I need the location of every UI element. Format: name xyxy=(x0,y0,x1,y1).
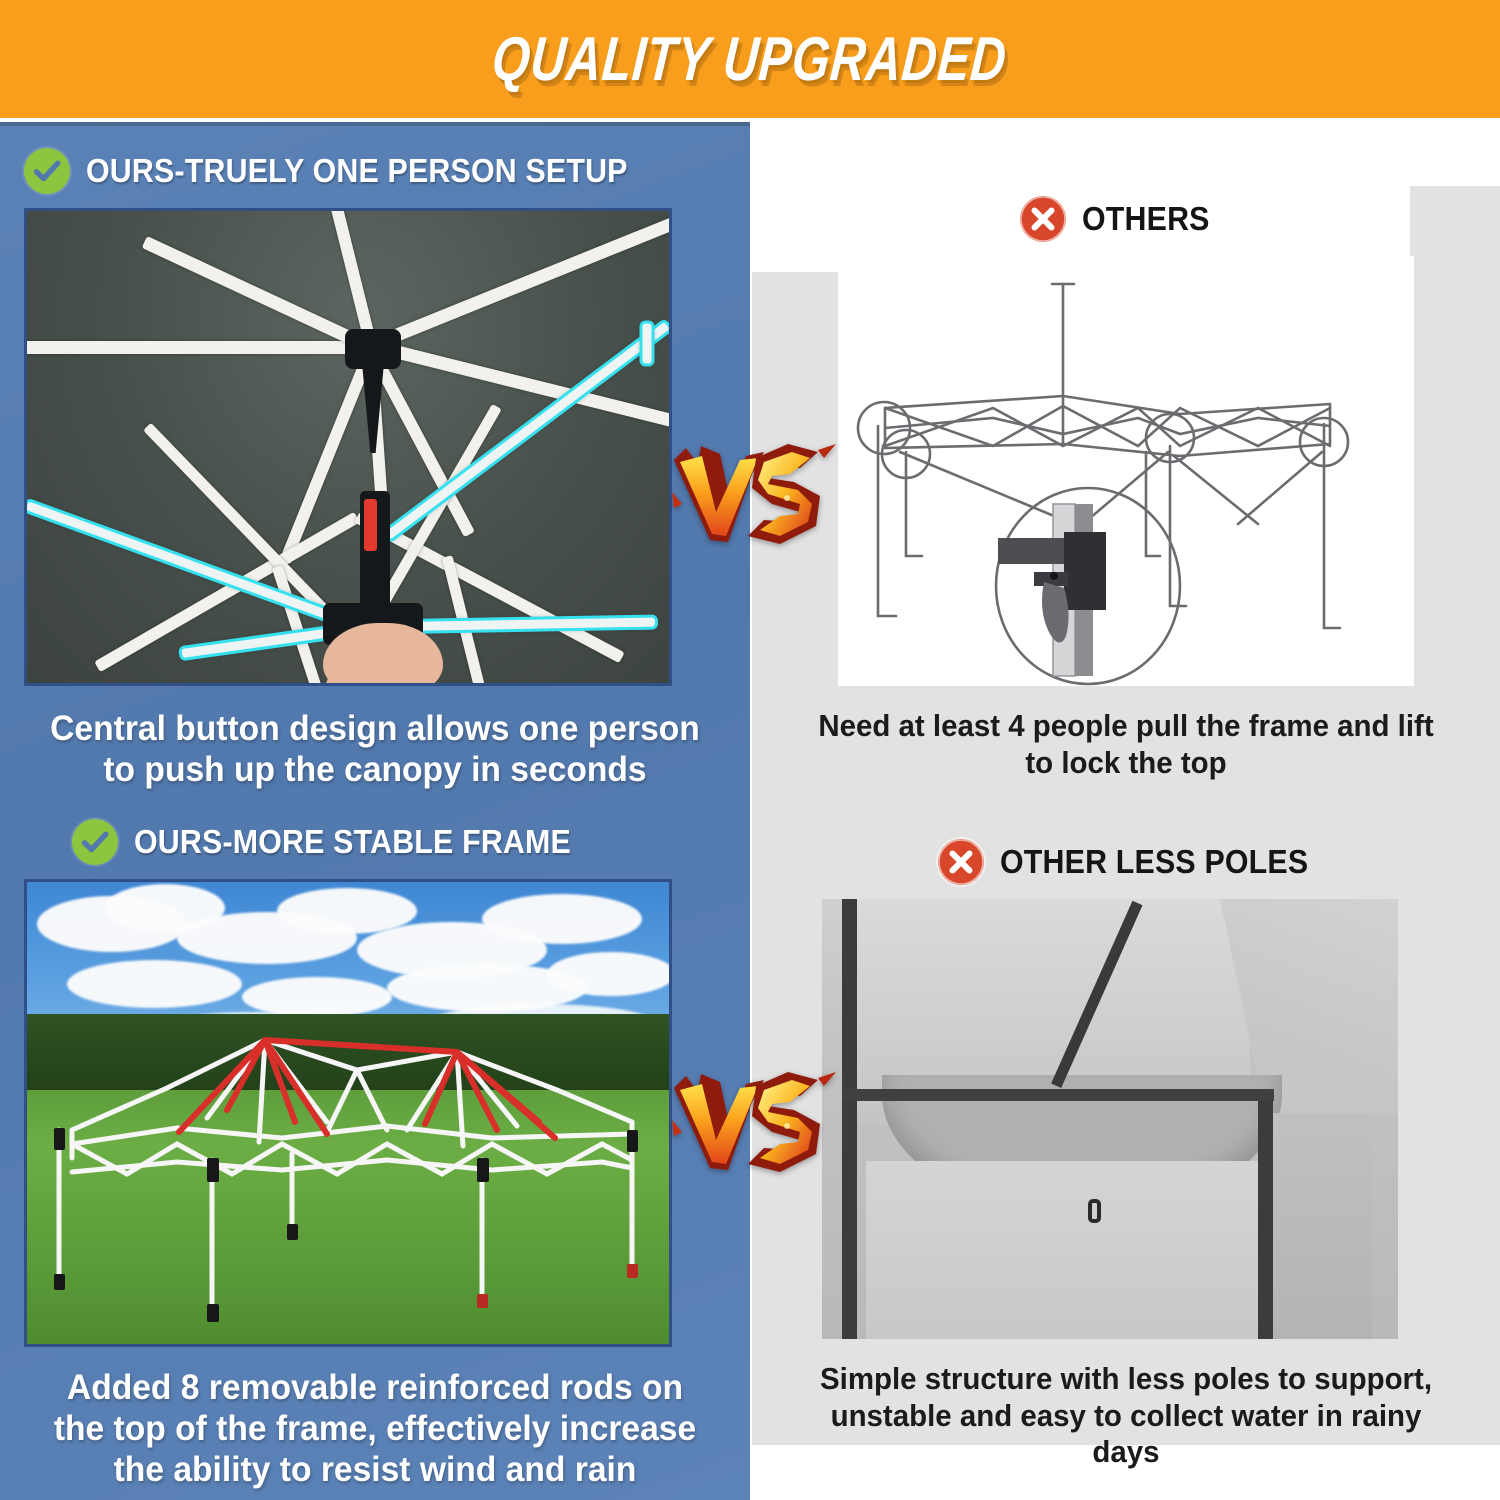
ours-photo-canopy-interior xyxy=(24,208,672,686)
ours-section-2-heading: OURS-MORE STABLE FRAME xyxy=(24,819,726,865)
check-circle-icon xyxy=(24,148,70,194)
others-column: OTHERS xyxy=(752,196,1500,1446)
others-photo-frame-diagram xyxy=(838,256,1414,686)
right-column-white-strip xyxy=(750,122,1500,186)
others-photo-sagging-canopy xyxy=(822,899,1398,1339)
ours-photo-frame-on-field xyxy=(24,879,672,1347)
ours-caption-2: Added 8 removable reinforced rods on the… xyxy=(40,1367,710,1491)
ours-section-1-heading: OURS-TRUELY ONE PERSON SETUP xyxy=(24,148,726,194)
x-circle-icon xyxy=(938,839,984,885)
check-circle-icon xyxy=(72,819,118,865)
others-section-2-heading: OTHER LESS POLES xyxy=(752,839,1500,885)
others-section-1-title: OTHERS xyxy=(1082,200,1210,238)
others-caption-2: Simple structure with less poles to supp… xyxy=(814,1361,1437,1471)
page-title: QUALITY UPGRADED xyxy=(490,24,1010,95)
infographic-page: QUALITY UPGRADED OURS-TRUELY ONE PERSON … xyxy=(0,0,1500,1500)
others-section-2-title: OTHER LESS POLES xyxy=(1000,843,1308,881)
others-section-1-heading: OTHERS xyxy=(752,196,1500,242)
x-circle-icon xyxy=(1020,196,1066,242)
ours-section-2-title: OURS-MORE STABLE FRAME xyxy=(134,823,571,861)
others-caption-1: Need at least 4 people pull the frame an… xyxy=(814,708,1437,781)
ours-caption-1: Central button design allows one person … xyxy=(46,708,705,791)
ours-section-1-title: OURS-TRUELY ONE PERSON SETUP xyxy=(86,152,628,190)
ours-column: OURS-TRUELY ONE PERSON SETUP xyxy=(0,122,750,1500)
header-banner: QUALITY UPGRADED xyxy=(0,0,1500,118)
